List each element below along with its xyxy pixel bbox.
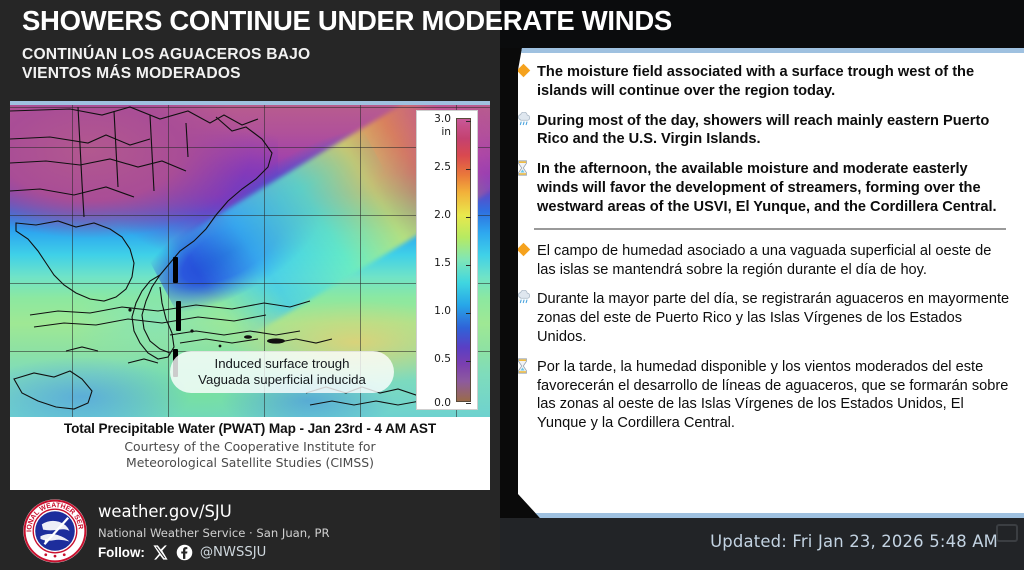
map-credit-line-1: Courtesy of the Cooperative Institute fo… <box>10 439 490 455</box>
facebook-icon[interactable] <box>176 544 193 561</box>
trough-annotation-english: Induced surface trough <box>215 356 350 372</box>
left-column: SHOWERS CONTINUE UNDER MODERATE WINDS CO… <box>0 0 500 570</box>
map-caption-title: Total Precipitable Water (PWAT) Map - Ja… <box>10 421 490 436</box>
footer-left: NATIONAL WEATHER SERVICE weather.gov/SJU… <box>0 490 500 570</box>
bullet-english-2: During most of the day, showers will rea… <box>516 112 1012 150</box>
bottom-status-bar: Updated: Fri Jan 23, 2026 5:48 AM <box>500 518 1024 570</box>
bullet-english-1-text: The moisture field associated with a sur… <box>537 63 1012 101</box>
colorbar-tick-labels: 3.0 in 2.5 2.0 1.5 1.0 0.5 0.0 <box>417 111 456 409</box>
colorbar-tick-0: 3.0 <box>434 113 451 125</box>
colorbar-tick-1: 2.5 <box>434 161 451 173</box>
infographic-root: SHOWERS CONTINUE UNDER MODERATE WINDS CO… <box>0 0 1024 570</box>
updated-timestamp: Updated: Fri Jan 23, 2026 5:48 AM <box>710 532 998 551</box>
footer-office-name: National Weather Service · San Juan, PR <box>98 526 330 540</box>
social-handle[interactable]: @NWSSJU <box>200 545 266 560</box>
trough-annotation: Induced surface trough Vaguada superfici… <box>170 351 394 393</box>
bullet-spanish-3: Por la tarde, la humedad disponible y lo… <box>516 358 1012 433</box>
footer-website-url[interactable]: weather.gov/SJU <box>98 502 232 521</box>
colorbar-unit: in <box>441 126 451 138</box>
map-credit-line-2: Meteorological Satellite Studies (CIMSS) <box>10 455 490 471</box>
colorbar-tick-5: 0.5 <box>434 353 451 365</box>
pwat-map-block: Induced surface trough Vaguada superfici… <box>10 101 490 490</box>
bullet-english-3: In the afternoon, the available moisture… <box>516 160 1012 216</box>
bullet-spanish-1-text: El campo de humedad asociado a una vagua… <box>537 242 1012 280</box>
hourglass-icon <box>516 358 537 433</box>
colorbar-gradient <box>456 118 471 402</box>
colorbar-tick-2: 2.0 <box>434 209 451 221</box>
pwat-map-image: Induced surface trough Vaguada superfici… <box>10 105 490 417</box>
page-subtitle: CONTINÚAN LOS AGUACEROS BAJO VIENTOS MÁS… <box>22 45 500 84</box>
colorbar-legend: 3.0 in 2.5 2.0 1.5 1.0 0.5 0.0 <box>416 110 478 410</box>
bullet-spanish-1: El campo de humedad asociado a una vagua… <box>516 242 1012 280</box>
bullet-english-2-text: During most of the day, showers will rea… <box>537 112 1012 150</box>
orange-diamond-icon <box>516 63 537 101</box>
map-caption: Total Precipitable Water (PWAT) Map - Ja… <box>10 417 490 490</box>
broken-image-icon <box>996 524 1018 542</box>
language-divider <box>534 228 1006 230</box>
bullet-english-3-text: In the afternoon, the available moisture… <box>537 160 1012 216</box>
follow-label: Follow: <box>98 545 145 560</box>
headline-block: SHOWERS CONTINUE UNDER MODERATE WINDS CO… <box>0 0 500 100</box>
footer-social-row: Follow: @NWSSJU <box>98 544 266 561</box>
subtitle-line-2: VIENTOS MÁS MODERADOS <box>22 64 500 84</box>
x-twitter-icon[interactable] <box>152 544 169 561</box>
trough-annotation-spanish: Vaguada superficial inducida <box>198 372 366 388</box>
discussion-panel: The moisture field associated with a sur… <box>500 48 1024 518</box>
rain-cloud-icon <box>516 290 537 346</box>
rain-cloud-icon <box>516 112 537 150</box>
nws-seal-logo: NATIONAL WEATHER SERVICE <box>22 498 88 564</box>
bullet-english-1: The moisture field associated with a sur… <box>516 63 1012 101</box>
map-caption-credit: Courtesy of the Cooperative Institute fo… <box>10 439 490 470</box>
colorbar-tick-3: 1.5 <box>434 257 451 269</box>
bullet-spanish-2: Durante la mayor parte del día, se regis… <box>516 290 1012 346</box>
colorbar-tick-4: 1.0 <box>434 305 451 317</box>
bullet-spanish-2-text: Durante la mayor parte del día, se regis… <box>537 290 1012 346</box>
bullet-spanish-3-text: Por la tarde, la humedad disponible y lo… <box>537 358 1012 433</box>
orange-diamond-icon <box>516 242 537 280</box>
hourglass-icon <box>516 160 537 216</box>
colorbar-tick-6: 0.0 <box>434 397 451 409</box>
subtitle-line-1: CONTINÚAN LOS AGUACEROS BAJO <box>22 45 500 65</box>
page-title: SHOWERS CONTINUE UNDER MODERATE WINDS <box>22 6 500 36</box>
